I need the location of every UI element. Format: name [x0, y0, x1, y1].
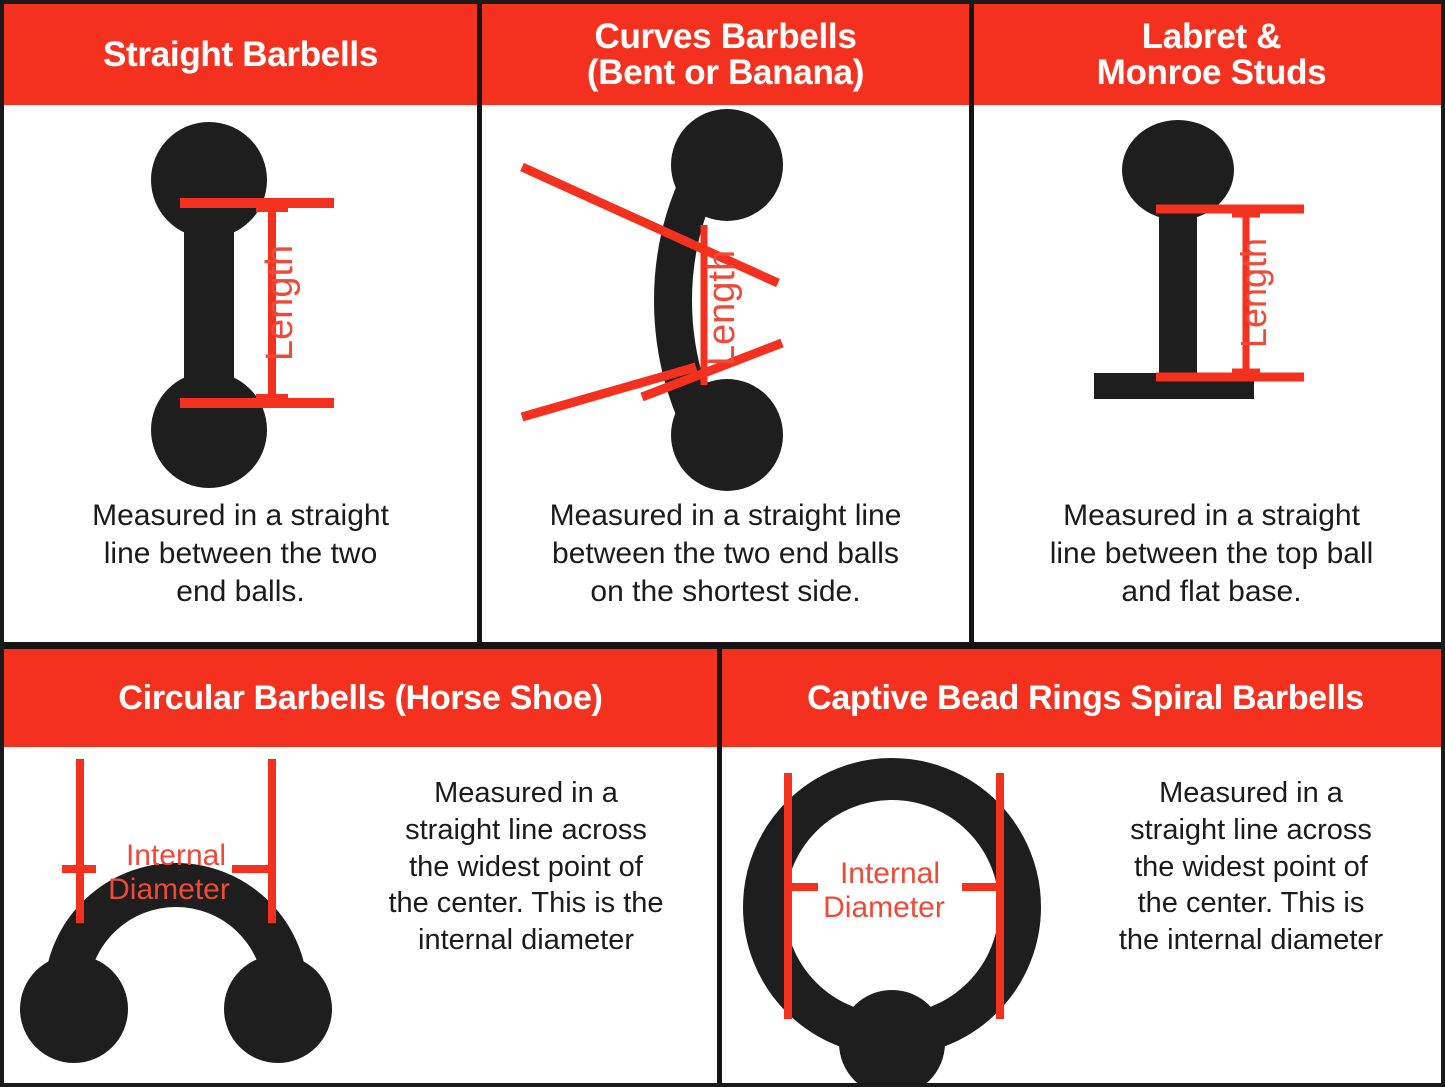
- column-divider-2: [969, 4, 974, 645]
- figure-curved-barbell: Length: [482, 105, 969, 495]
- panel-curved-barbells: Curves Barbells (Bent or Banana): [482, 4, 969, 645]
- internal-label-line1: Internal: [126, 839, 226, 872]
- panel-circular-barbells: Circular Barbells (Horse Shoe): [4, 649, 717, 1087]
- caption-captive-bead-rings: Measured in a straight line across the w…: [1067, 747, 1445, 959]
- panel-title-text: Captive Bead Rings Spiral Barbells: [807, 681, 1364, 716]
- curved-barbell-top-ball: [671, 109, 783, 221]
- horseshoe-diagram: Internal Diameter: [4, 747, 349, 1087]
- panel-header-curved-barbells: Curves Barbells (Bent or Banana): [482, 4, 969, 105]
- figure-labret-stud: Length: [974, 105, 1445, 495]
- column-divider-1: [477, 4, 482, 645]
- figure-straight-barbell: Length: [4, 105, 477, 495]
- figure-horseshoe: Internal Diameter: [4, 747, 349, 1087]
- split-layout-circular: Internal Diameter Measured in a straight…: [4, 747, 717, 1087]
- straight-barbell-diagram: Length: [4, 105, 477, 495]
- panel-title-text: Labret & Monroe Studs: [1097, 19, 1327, 90]
- panel-labret-studs: Labret & Monroe Studs: [974, 4, 1445, 645]
- panel-title-text: Curves Barbells (Bent or Banana): [587, 19, 864, 90]
- internal-label-line2: Diameter: [823, 891, 945, 924]
- caption-straight-barbells: Measured in a straight line between the …: [4, 497, 477, 610]
- column-divider-3: [717, 649, 722, 1087]
- split-layout-captive: Internal Diameter Measured in a straight…: [722, 747, 1445, 1087]
- panel-title-text: Circular Barbells (Horse Shoe): [118, 681, 602, 716]
- tangent-line-top-left: [522, 167, 694, 245]
- panel-title-text: Straight Barbells: [103, 37, 378, 73]
- labret-stud-diagram: Length: [974, 105, 1445, 495]
- barbell-top-ball: [151, 122, 267, 238]
- panel-body-captive-bead-rings: Internal Diameter Measured in a straight…: [722, 747, 1445, 1087]
- internal-label-line1: Internal: [840, 857, 940, 890]
- captive-bead: [839, 990, 945, 1087]
- panel-header-labret-studs: Labret & Monroe Studs: [974, 4, 1445, 105]
- barbell-bottom-ball: [151, 372, 267, 488]
- caption-circular-barbells: Measured in a straight line across the w…: [349, 747, 717, 959]
- panel-header-circular-barbells: Circular Barbells (Horse Shoe): [4, 649, 717, 747]
- top-row: Straight Barbells: [4, 4, 1445, 645]
- caption-labret-studs: Measured in a straight line between the …: [974, 497, 1445, 610]
- panel-body-labret-studs: Length Measured in a straight line betwe…: [974, 105, 1445, 645]
- panel-body-circular-barbells: Internal Diameter Measured in a straight…: [4, 747, 717, 1087]
- caption-curved-barbells: Measured in a straight line between the …: [482, 497, 969, 610]
- row-divider: [4, 642, 1445, 649]
- panel-body-curved-barbells: Length Measured in a straight line betwe…: [482, 105, 969, 645]
- length-label: Length: [259, 245, 301, 361]
- captive-bead-ring-diagram: Internal Diameter: [722, 747, 1067, 1087]
- internal-label-line2: Diameter: [108, 873, 230, 906]
- length-label: Length: [1233, 238, 1274, 348]
- panel-body-straight-barbells: Length Measured in a straight line betwe…: [4, 105, 477, 645]
- horseshoe-ball-right: [224, 955, 332, 1063]
- length-label: Length: [701, 250, 743, 366]
- figure-captive-bead-ring: Internal Diameter: [722, 747, 1067, 1087]
- panel-header-straight-barbells: Straight Barbells: [4, 4, 477, 105]
- curved-barbell-bottom-ball: [671, 379, 783, 491]
- panel-header-captive-bead-rings: Captive Bead Rings Spiral Barbells: [722, 649, 1445, 747]
- bottom-row: Circular Barbells (Horse Shoe): [4, 649, 1445, 1087]
- curved-barbell-diagram: Length: [482, 105, 969, 495]
- panel-straight-barbells: Straight Barbells: [4, 4, 477, 645]
- horseshoe-ball-left: [20, 955, 128, 1063]
- panel-captive-bead-rings: Captive Bead Rings Spiral Barbells: [722, 649, 1445, 1087]
- measurement-guide-infographic: Straight Barbells: [0, 0, 1445, 1087]
